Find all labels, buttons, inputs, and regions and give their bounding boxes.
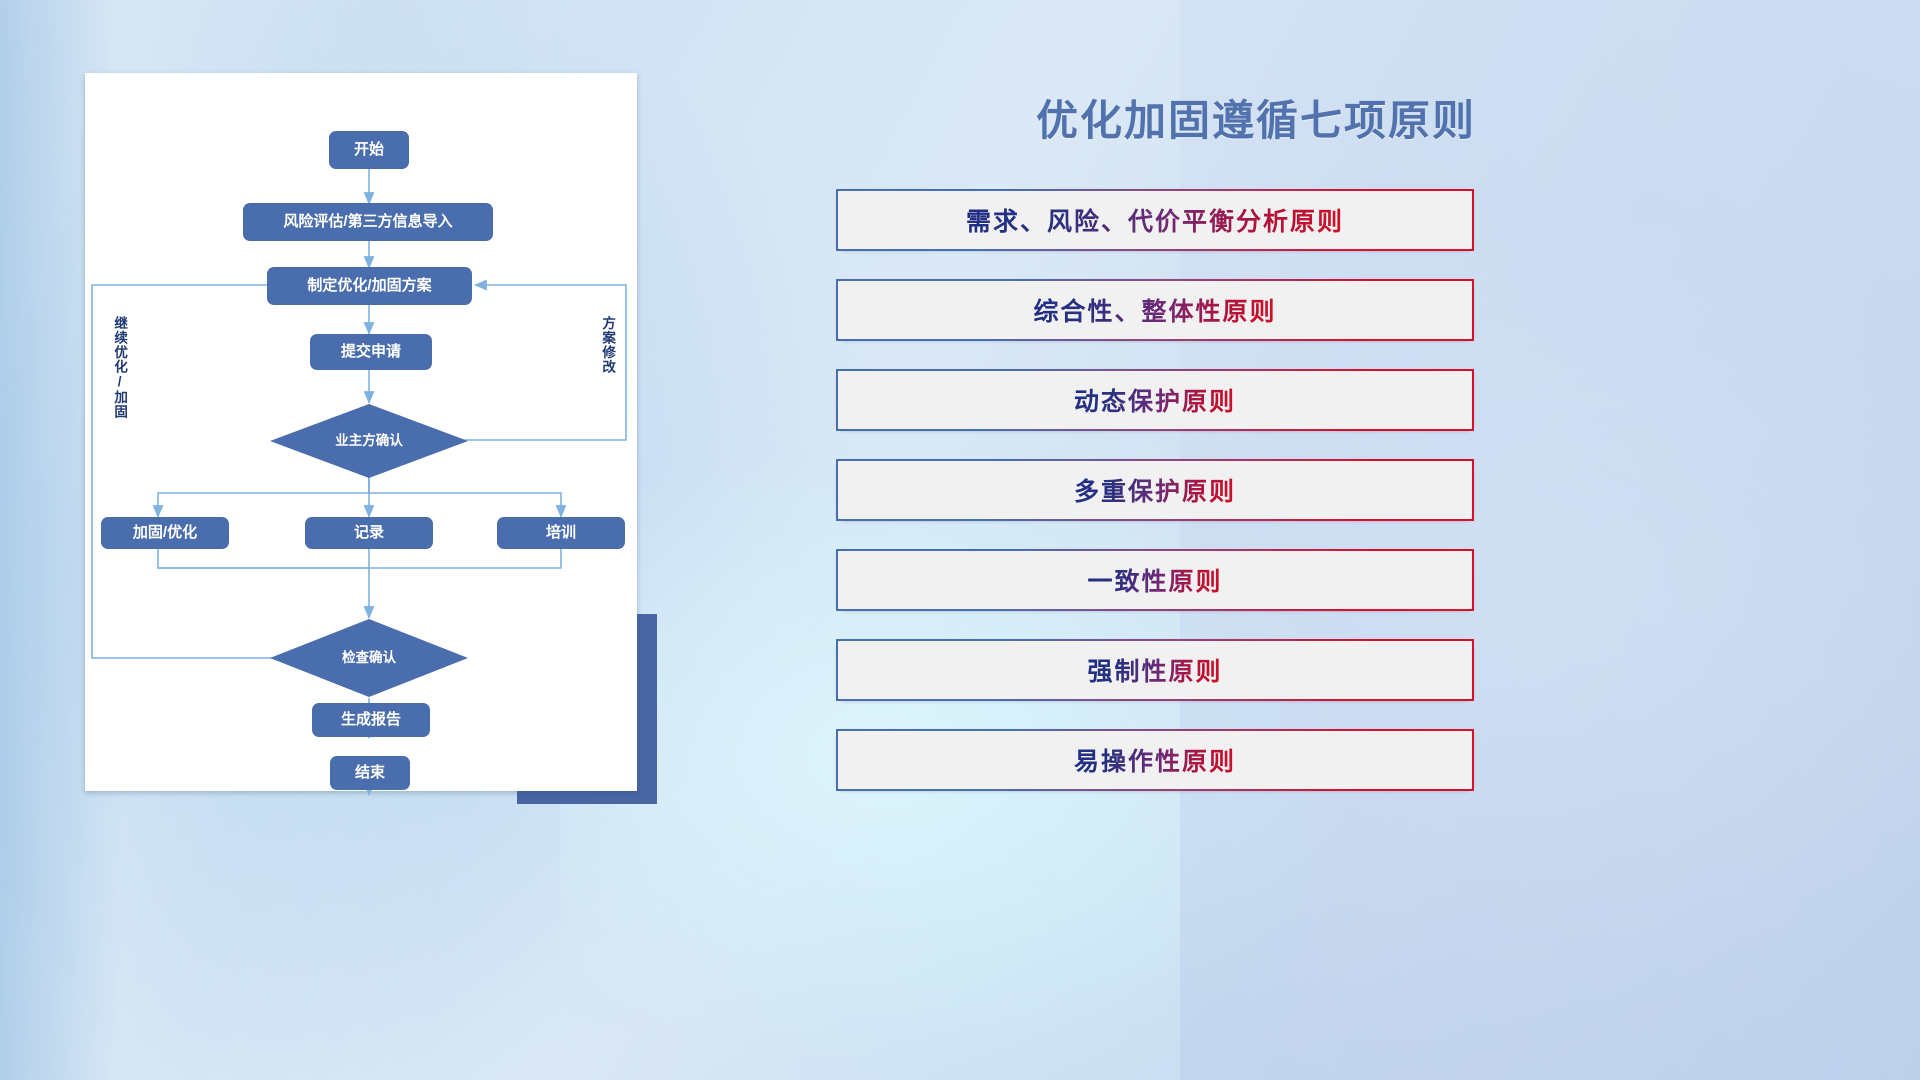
principle-card-5[interactable]: 一致性原则	[836, 549, 1474, 611]
flow-edge-label-right-loop: 方案修改	[600, 316, 614, 408]
principle-card-3[interactable]: 动态保护原则	[836, 369, 1474, 431]
principle-card-6[interactable]: 强制性原则	[836, 639, 1474, 701]
principle-card-4-label: 多重保护原则	[1074, 472, 1236, 508]
principle-card-4[interactable]: 多重保护原则	[836, 459, 1474, 521]
principle-card-7[interactable]: 易操作性原则	[836, 729, 1474, 791]
principles-card-list: 需求、风险、代价平衡分析原则 综合性、整体性原则 动态保护原则 多重保护原则 一…	[836, 189, 1476, 819]
principle-card-6-label: 强制性原则	[1087, 652, 1222, 688]
flow-node-check-confirm[interactable]	[269, 618, 469, 698]
principle-card-2-label: 综合性、整体性原则	[1033, 292, 1276, 328]
principle-card-1-label: 需求、风险、代价平衡分析原则	[966, 202, 1344, 238]
principle-card-2[interactable]: 综合性、整体性原则	[836, 279, 1474, 341]
principles-panel: 优化加固遵循七项原则 需求、风险、代价平衡分析原则 综合性、整体性原则 动态保护…	[836, 0, 1836, 1080]
principle-card-3-label: 动态保护原则	[1074, 382, 1236, 418]
flow-edge-label-left-loop: 继续优化/加固	[112, 316, 126, 446]
principle-card-1[interactable]: 需求、风险、代价平衡分析原则	[836, 189, 1474, 251]
page-title: 优化加固遵循七项原则	[936, 92, 1576, 150]
principle-card-7-label: 易操作性原则	[1074, 742, 1236, 778]
flowchart-panel: 开始 风险评估/第三方信息导入 制定优化/加固方案 提交申请 业主方确认 加固/…	[85, 73, 645, 810]
principle-card-5-label: 一致性原则	[1087, 562, 1222, 598]
flow-node-owner-confirm[interactable]	[269, 403, 469, 479]
